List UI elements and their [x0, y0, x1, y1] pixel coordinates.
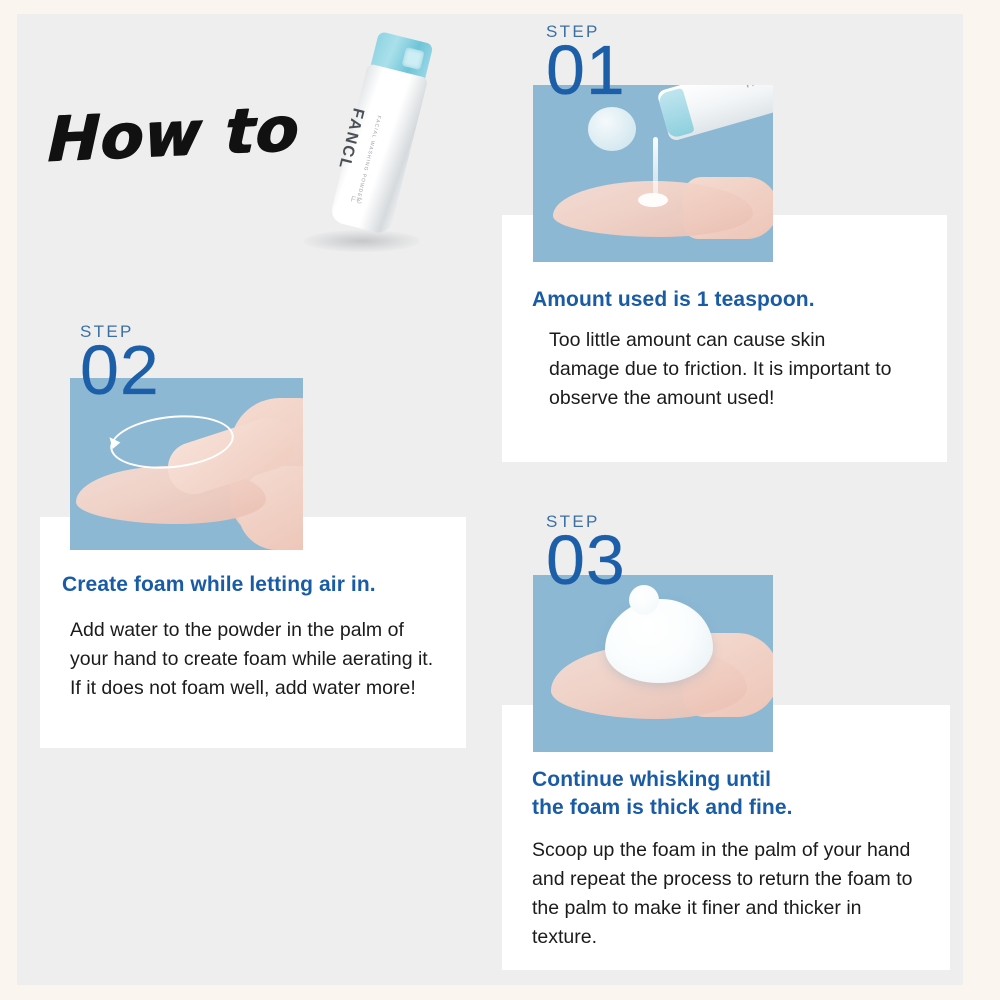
photo-bottle-brand: FANCL — [745, 85, 773, 90]
step-01-photo: FANCL — [533, 85, 773, 262]
step-02-body: Add water to the powder in the palm of y… — [70, 616, 438, 703]
step-label-02: STEP 02 — [80, 322, 160, 402]
step-03-heading-line-1: Continue whisking until — [532, 766, 932, 794]
photo-bottle-cap — [657, 88, 695, 139]
bottle-graphic: FANCL FACIAL WASHING POWDER FC — [329, 30, 437, 235]
bottle-mark-label: FC — [350, 194, 364, 206]
bottle-shadow — [304, 230, 420, 252]
step-03-photo — [533, 575, 773, 752]
step-number-01: 01 — [546, 38, 626, 102]
foam-ball — [605, 599, 713, 683]
step-number-02: 02 — [80, 338, 160, 402]
powder-in-palm — [638, 193, 668, 207]
bottle-body: FANCL FACIAL WASHING POWDER FC — [329, 63, 428, 235]
bottle-brand-label: FANCL — [334, 106, 367, 172]
bottle-cap-notch — [402, 47, 425, 70]
step-label-03: STEP 03 — [546, 512, 626, 592]
step-03-body: Scoop up the foam in the palm of your ha… — [532, 836, 924, 951]
foam-tip — [629, 585, 659, 615]
water-blob — [588, 107, 636, 151]
photo-bottle: FANCL — [656, 85, 773, 142]
how-to-infographic: How to FANCL FACIAL WASHING POWDER FC FA… — [0, 0, 1000, 1000]
step-01-body: Too little amount can cause skin damage … — [549, 326, 894, 413]
step-01-heading: Amount used is 1 teaspoon. — [532, 286, 932, 314]
step-03-heading-line-2: the foam is thick and fine. — [532, 794, 932, 822]
product-bottle-image: FANCL FACIAL WASHING POWDER FC — [300, 22, 450, 262]
step-02-heading: Create foam while letting air in. — [62, 571, 462, 599]
step-label-01: STEP 01 — [546, 22, 626, 102]
page-title: How to — [47, 92, 300, 176]
step-number-03: 03 — [546, 528, 626, 592]
step-03-heading: Continue whisking until the foam is thic… — [532, 766, 932, 821]
powder-stream — [653, 137, 658, 195]
